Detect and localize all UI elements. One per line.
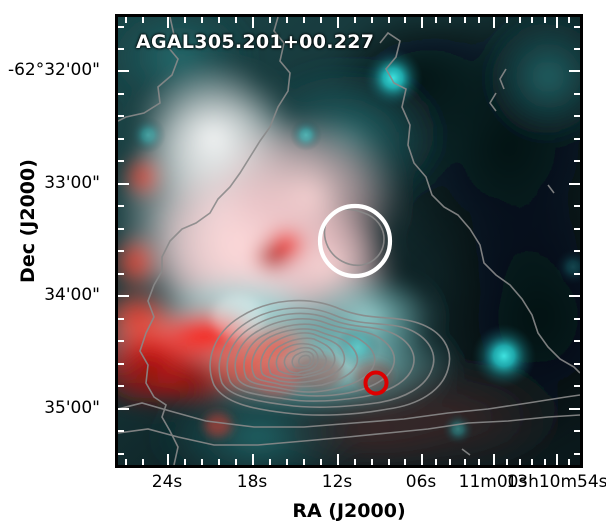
y-right-minor-tick: [574, 205, 580, 207]
x-top-minor-tick: [435, 17, 437, 23]
y-minor-tick: [118, 318, 124, 320]
y-right-minor-tick: [574, 250, 580, 252]
x-top-minor-tick: [478, 17, 480, 23]
y-right-major-tick-1: [569, 183, 580, 185]
x-minor-tick: [478, 459, 480, 465]
sky-image-panel: AGAL305.201+00.227: [115, 14, 583, 468]
panel-title: AGAL305.201+00.227: [136, 31, 374, 53]
y-right-major-tick-0: [569, 70, 580, 72]
y-right-minor-tick: [574, 26, 580, 28]
x-tick-label-0: 24s: [137, 472, 197, 492]
y-minor-tick: [118, 93, 124, 95]
x-minor-tick: [286, 459, 288, 465]
x-minor-tick: [303, 459, 305, 465]
y-tick-2: 34'00": [0, 285, 100, 305]
sky-image: [118, 17, 580, 465]
y-right-minor-tick: [574, 160, 580, 162]
x-top-minor-tick: [235, 17, 237, 23]
x-top-minor-tick: [142, 17, 144, 23]
y-right-minor-tick: [574, 138, 580, 140]
figure-root: Dec (J2000) -62°32'00" 33'00" 34'00" 35'…: [0, 0, 606, 532]
x-top-minor-tick: [218, 17, 220, 23]
y-tick-label-0: -62°32'00": [8, 60, 100, 80]
x-minor-tick: [449, 459, 451, 465]
x-major-tick-2: [337, 454, 339, 465]
x-minor-tick: [125, 459, 127, 465]
y-major-tick-2: [118, 295, 129, 297]
x-top-major-tick-2: [337, 17, 339, 28]
x-top-minor-tick: [184, 17, 186, 23]
y-right-minor-tick: [574, 115, 580, 117]
y-minor-tick: [118, 160, 124, 162]
y-right-minor-tick: [574, 363, 580, 365]
x-top-major-tick-0: [167, 17, 169, 28]
y-tick-0: -62°32'00": [0, 60, 100, 80]
x-top-minor-tick: [125, 17, 127, 23]
x-minor-tick: [435, 459, 437, 465]
x-top-minor-tick: [388, 17, 390, 23]
x-top-minor-tick: [303, 17, 305, 23]
cyan-point-source-1: [363, 48, 423, 108]
x-minor-tick: [142, 459, 144, 465]
x-top-major-tick-1: [252, 17, 254, 28]
x-top-minor-tick: [449, 17, 451, 23]
diffuse-emission-layer: [118, 17, 580, 465]
x-axis-label: RA (J2000): [115, 500, 583, 522]
x-major-tick-1: [252, 454, 254, 465]
x-minor-tick: [544, 459, 546, 465]
y-minor-tick: [118, 363, 124, 365]
x-minor-tick: [568, 459, 570, 465]
y-major-tick-3: [118, 408, 129, 410]
x-minor-tick: [218, 459, 220, 465]
x-top-minor-tick: [544, 17, 546, 23]
y-minor-tick: [118, 228, 124, 230]
y-tick-3: 35'00": [0, 398, 100, 418]
y-tick-label-3: 35'00": [44, 398, 100, 418]
y-minor-tick: [118, 115, 124, 117]
x-minor-tick: [184, 459, 186, 465]
x-top-minor-tick: [404, 17, 406, 23]
y-tick-1: 33'00": [0, 173, 100, 193]
y-axis-label: Dec (J2000): [17, 101, 39, 341]
y-right-major-tick-3: [569, 408, 580, 410]
x-minor-tick: [506, 459, 508, 465]
cyan-point-source-4: [130, 117, 166, 153]
x-tick-label-2: 12s: [307, 472, 367, 492]
y-right-minor-tick: [574, 430, 580, 432]
y-minor-tick: [118, 138, 124, 140]
x-minor-tick: [201, 459, 203, 465]
x-top-minor-tick: [269, 17, 271, 23]
x-major-tick-0: [167, 454, 169, 465]
x-top-minor-tick: [506, 17, 508, 23]
y-tick-label-2: 34'00": [44, 285, 100, 305]
x-top-minor-tick: [201, 17, 203, 23]
x-minor-tick: [404, 459, 406, 465]
y-minor-tick: [118, 48, 124, 50]
cyan-point-source-3: [290, 119, 322, 151]
x-top-minor-tick: [531, 17, 533, 23]
y-right-minor-tick: [574, 228, 580, 230]
y-minor-tick: [118, 385, 124, 387]
x-top-major-tick-3: [421, 17, 423, 28]
x-major-tick-4: [493, 454, 495, 465]
y-minor-tick: [118, 205, 124, 207]
y-right-minor-tick: [574, 385, 580, 387]
x-minor-tick: [269, 459, 271, 465]
x-major-tick-3: [421, 454, 423, 465]
y-minor-tick: [118, 430, 124, 432]
x-top-minor-tick: [464, 17, 466, 23]
x-top-minor-tick: [568, 17, 570, 23]
y-major-tick-1: [118, 183, 129, 185]
x-top-minor-tick: [519, 17, 521, 23]
y-minor-tick: [118, 340, 124, 342]
y-tick-label-1: 33'00": [44, 173, 100, 193]
x-minor-tick: [320, 459, 322, 465]
y-minor-tick: [118, 273, 124, 275]
x-tick-label-5: 13h10m54s: [477, 472, 606, 492]
cyan-point-source-2: [472, 324, 536, 388]
x-minor-tick: [464, 459, 466, 465]
x-minor-tick: [531, 459, 533, 465]
y-minor-tick: [118, 453, 124, 455]
y-major-tick-0: [118, 70, 129, 72]
x-top-major-tick-5: [556, 17, 558, 28]
x-minor-tick: [371, 459, 373, 465]
y-right-minor-tick: [574, 273, 580, 275]
sky-image-svg: [118, 17, 580, 465]
cyan-point-source-5: [442, 413, 474, 445]
x-top-minor-tick: [320, 17, 322, 23]
y-right-minor-tick: [574, 48, 580, 50]
y-minor-tick: [118, 26, 124, 28]
y-right-major-tick-2: [569, 295, 580, 297]
x-top-major-tick-4: [493, 17, 495, 28]
y-minor-tick: [118, 250, 124, 252]
x-minor-tick: [354, 459, 356, 465]
x-top-minor-tick: [371, 17, 373, 23]
y-right-minor-tick: [574, 453, 580, 455]
y-right-minor-tick: [574, 93, 580, 95]
x-major-tick-5: [556, 454, 558, 465]
x-top-minor-tick: [286, 17, 288, 23]
x-tick-label-1: 18s: [222, 472, 282, 492]
x-minor-tick: [388, 459, 390, 465]
x-minor-tick: [235, 459, 237, 465]
y-right-minor-tick: [574, 340, 580, 342]
x-minor-tick: [519, 459, 521, 465]
y-right-minor-tick: [574, 318, 580, 320]
x-top-minor-tick: [354, 17, 356, 23]
